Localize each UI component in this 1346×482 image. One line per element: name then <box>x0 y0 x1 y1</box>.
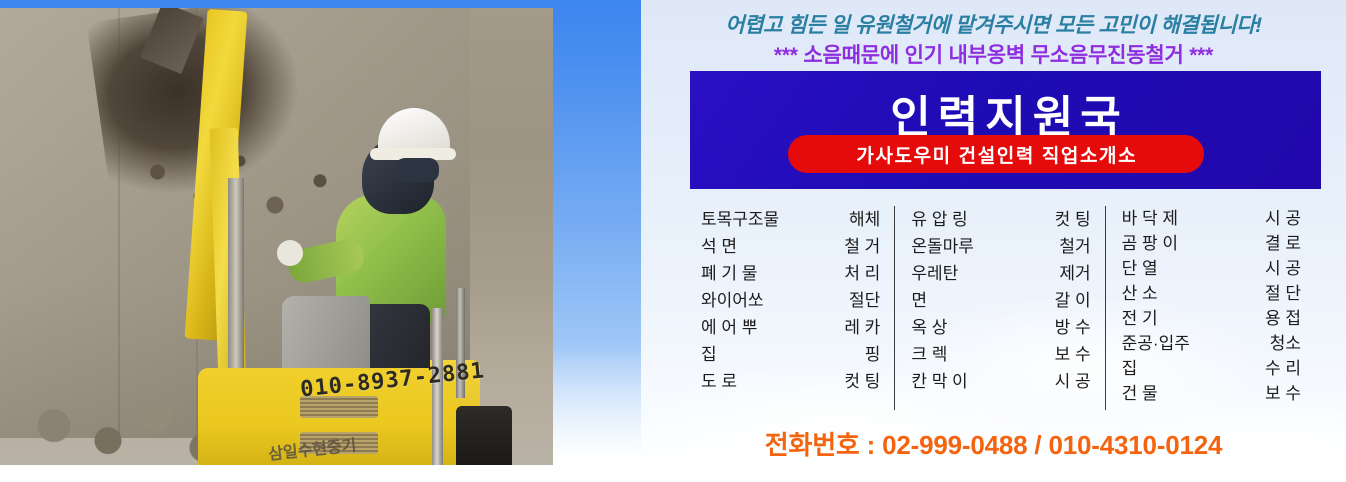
service-item: 우레탄제거 <box>911 260 1090 287</box>
service-item-left: 도 로 <box>701 368 737 395</box>
service-item-right: 시 공 <box>1265 206 1301 231</box>
service-item: 칸 막 이시 공 <box>911 368 1090 395</box>
service-item-left: 에 어 뿌 <box>701 314 757 341</box>
company-title-box: 인력지원국 가사도우미 건설인력 직업소개소 <box>690 71 1321 189</box>
service-item-right: 레 카 <box>844 314 880 341</box>
operator-glove <box>277 240 303 266</box>
service-item: 도 로컷 팅 <box>701 368 880 395</box>
service-item: 와이어쏘절단 <box>701 287 880 314</box>
service-item-left: 바 닥 제 <box>1122 206 1178 231</box>
tagline-primary: 어렵고 힘든 일 유원철거에 맡겨주시면 모든 고민이 해결됩니다! <box>641 9 1346 39</box>
service-item: 온돌마루철거 <box>911 233 1090 260</box>
service-item-left: 칸 막 이 <box>911 368 967 395</box>
service-item-left: 토목구조물 <box>701 206 779 233</box>
left-photo-panel: 010-8937-2881 삼일수현중기 <box>0 0 641 482</box>
service-item: 폐 기 물처 리 <box>701 260 880 287</box>
service-item-left: 크 렉 <box>911 341 947 368</box>
service-item-right: 시 공 <box>1265 256 1301 281</box>
service-item: 옥 상방 수 <box>911 314 1090 341</box>
service-item: 토목구조물해체 <box>701 206 880 233</box>
service-item-left: 면 <box>911 287 927 314</box>
service-item-left: 전 기 <box>1122 306 1158 331</box>
service-item-right: 청소 <box>1270 331 1301 356</box>
service-item: 집수 리 <box>1122 356 1301 381</box>
service-item-right: 컷 팅 <box>844 368 880 395</box>
service-item-right: 절 단 <box>1265 281 1301 306</box>
service-item-right: 보 수 <box>1055 341 1091 368</box>
service-item-left: 집 <box>701 341 717 368</box>
service-item: 준공·입주청소 <box>1122 331 1301 356</box>
service-item-right: 핑 <box>865 341 881 368</box>
service-item-left: 유 압 링 <box>911 206 967 233</box>
subtitle-badge: 가사도우미 건설인력 직업소개소 <box>788 135 1204 173</box>
service-item-left: 옥 상 <box>911 314 947 341</box>
demolition-photo: 010-8937-2881 삼일수현중기 <box>0 8 553 465</box>
service-item: 면갈 이 <box>911 287 1090 314</box>
service-item-right: 철 거 <box>844 233 880 260</box>
service-item: 건 물보 수 <box>1122 381 1301 406</box>
services-list: 토목구조물해체석 면철 거폐 기 물처 리와이어쏘절단에 어 뿌레 카집핑도 로… <box>701 206 1301 410</box>
service-item-right: 용 접 <box>1265 306 1301 331</box>
service-item-right: 처 리 <box>844 260 880 287</box>
contact-phone-line: 전화번호 : 02-999-0488 / 010-4310-0124 <box>641 425 1346 462</box>
service-item: 산 소절 단 <box>1122 281 1301 306</box>
service-item-right: 절단 <box>849 287 880 314</box>
advertisement-banner: 010-8937-2881 삼일수현중기 어렵고 힘든 일 유원철거에 맡겨주시… <box>0 0 1346 482</box>
service-item-right: 갈 이 <box>1055 287 1091 314</box>
services-column-1: 토목구조물해체석 면철 거폐 기 물처 리와이어쏘절단에 어 뿌레 카집핑도 로… <box>701 206 894 410</box>
service-item-left: 산 소 <box>1122 281 1158 306</box>
service-item-right: 방 수 <box>1055 314 1091 341</box>
service-item-left: 폐 기 물 <box>701 260 757 287</box>
dust-mask <box>395 158 439 182</box>
services-column-3: 바 닥 제시 공곰 팡 이결 로단 열시 공산 소절 단전 기용 접준공·입주청… <box>1105 206 1301 410</box>
service-item: 바 닥 제시 공 <box>1122 206 1301 231</box>
service-item-left: 집 <box>1122 356 1138 381</box>
service-item: 석 면철 거 <box>701 233 880 260</box>
service-item-left: 온돌마루 <box>911 233 974 260</box>
service-item: 단 열시 공 <box>1122 256 1301 281</box>
service-item-left: 준공·입주 <box>1122 331 1190 356</box>
service-item: 전 기용 접 <box>1122 306 1301 331</box>
service-item: 곰 팡 이결 로 <box>1122 231 1301 256</box>
service-item-right: 보 수 <box>1265 381 1301 406</box>
tagline-secondary: *** 소음때문에 인기 내부옹벽 무소음무진동철거 *** <box>641 39 1346 69</box>
right-content-panel: 어렵고 힘든 일 유원철거에 맡겨주시면 모든 고민이 해결됩니다! *** 소… <box>641 0 1346 482</box>
service-item-right: 철거 <box>1059 233 1090 260</box>
service-item-left: 석 면 <box>701 233 737 260</box>
service-item: 집핑 <box>701 341 880 368</box>
service-item-right: 컷 팅 <box>1055 206 1091 233</box>
service-item-right: 제거 <box>1059 260 1090 287</box>
service-item-left: 와이어쏘 <box>701 287 764 314</box>
service-item-left: 단 열 <box>1122 256 1158 281</box>
service-item-left: 건 물 <box>1122 381 1158 406</box>
subtitle-badge-label: 가사도우미 건설인력 직업소개소 <box>855 141 1137 168</box>
service-item: 유 압 링컷 팅 <box>911 206 1090 233</box>
services-column-2: 유 압 링컷 팅온돌마루철거우레탄제거면갈 이옥 상방 수크 렉보 수칸 막 이… <box>894 206 1104 410</box>
wall-rubble <box>120 128 370 238</box>
service-item-left: 곰 팡 이 <box>1122 231 1178 256</box>
excavator-track <box>456 406 512 465</box>
service-item-right: 결 로 <box>1265 231 1301 256</box>
service-item-left: 우레탄 <box>911 260 958 287</box>
service-item: 크 렉보 수 <box>911 341 1090 368</box>
service-item: 에 어 뿌레 카 <box>701 314 880 341</box>
service-item-right: 시 공 <box>1055 368 1091 395</box>
service-item-right: 수 리 <box>1265 356 1301 381</box>
service-item-right: 해체 <box>849 206 880 233</box>
